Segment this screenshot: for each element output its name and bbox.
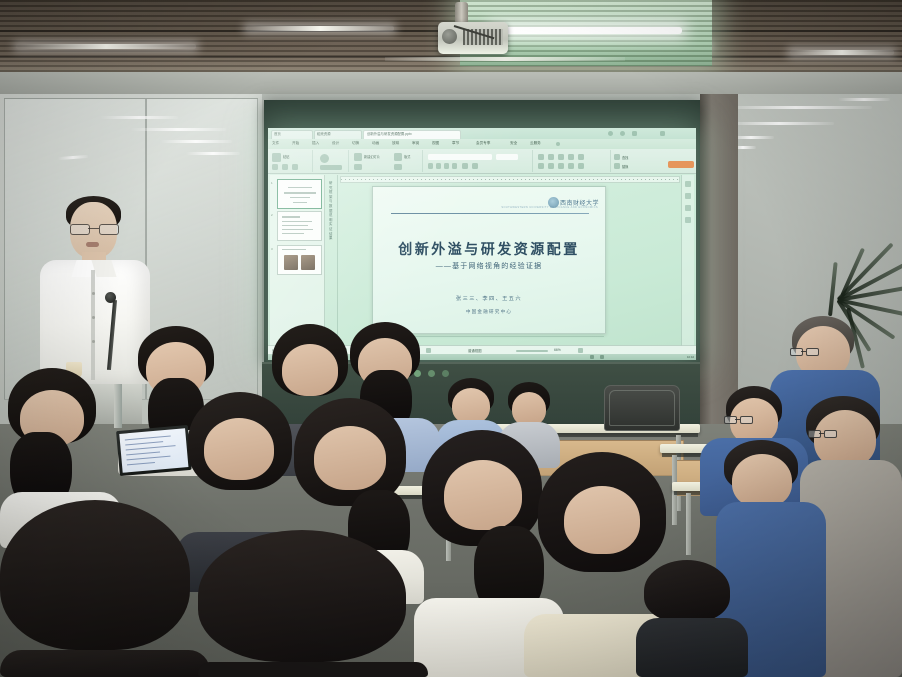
share-button[interactable] [668,161,694,168]
ceiling-light-strip [790,50,894,55]
redo-icon[interactable] [320,165,342,170]
upper-wall-band [0,72,902,95]
presenter-mouth [86,242,99,247]
menu-item[interactable]: 开始 [292,141,299,146]
ceiling-light-strip [246,26,394,31]
head [204,418,274,480]
ribbon-group-slides: 新建幻灯片 版式 [350,150,423,172]
align-left-icon[interactable] [538,163,544,169]
ceiling-fluorescent-tube [492,27,682,34]
app-tab-label: 首页 [274,130,310,138]
head [732,454,792,508]
thumbnail-number: 1 [271,181,273,185]
menu-item[interactable]: 插入 [312,141,319,146]
volume-icon[interactable] [600,355,604,359]
classroom-seminar-photo: 首页 稻壳资源 创新外溢与研发资源配置.pptx 文件 开始 插入 设计 切换 … [0,0,902,677]
app-ribbon: 粘贴 新建幻灯片 版式 [268,149,696,174]
microphone-icon [105,292,116,303]
head [564,486,640,554]
projector-lens-icon [442,29,457,44]
menu-item[interactable]: 动画 [372,141,379,146]
underline-icon[interactable] [444,163,449,169]
menu-item[interactable]: 会员专享 [476,141,490,146]
torso [198,662,428,677]
font-size-select[interactable] [496,154,518,160]
projector-mount [455,2,468,24]
slide-ruler [340,176,680,183]
ceiling-light-strip [16,44,196,49]
thumbnail-number: 2 [271,213,273,217]
glasses-icon [724,416,752,422]
format-pane-icon[interactable] [685,193,691,199]
slide-subtitle: ——基于网络视角的经验证据 [373,261,605,271]
glasses-icon [808,430,836,436]
menu-item[interactable]: 章节 [452,141,459,146]
copy-icon[interactable] [282,164,288,170]
columns-icon[interactable] [578,163,584,169]
shirt-button [92,292,95,295]
shirt-button [92,340,95,343]
settings-icon[interactable] [620,131,625,136]
light-reflection [130,128,226,131]
justify-icon[interactable] [568,163,574,169]
slide-title: 创新外溢与研发资源配置 [373,239,605,259]
slide-canvas[interactable]: 西南财经大学 SOUTHWESTERN UNIVERSITY OF FINANC… [372,186,606,334]
glasses-icon [70,224,117,233]
ribbon-group-font [424,150,533,172]
bullet-list-icon[interactable] [538,154,544,160]
audience-member [0,500,210,677]
audience-member [636,560,748,677]
menu-item[interactable]: 审阅 [412,141,419,146]
numbered-list-icon[interactable] [548,154,554,160]
light-reflection [720,106,872,109]
ribbon-group-clipboard: 粘贴 [268,150,313,172]
right-tool-pane[interactable] [681,175,694,346]
hair [0,500,190,650]
find-icon[interactable] [614,154,620,160]
slide-thumbnail-pane[interactable]: 1 2 3 [270,175,325,346]
ribbon-group-undo [314,150,349,172]
format-painter-icon[interactable] [292,164,298,170]
menu-item[interactable]: 文件 [272,141,279,146]
head [452,388,490,424]
head [314,426,386,490]
reset-icon[interactable] [394,164,402,170]
fit-to-window-icon[interactable] [578,348,583,353]
outline-pane[interactable]: 研究框架与数据说明实证结果 [326,175,338,346]
zoom-slider[interactable] [516,350,548,352]
animation-pane-icon[interactable] [685,205,691,211]
menu-item[interactable]: 安全 [510,141,517,146]
ribbon-label: 查找 [622,155,628,160]
close-icon[interactable] [660,131,665,136]
hair [644,560,730,622]
chair-back-inner [609,390,675,426]
hair [198,530,406,662]
slide-divider [391,213,589,214]
menu-item[interactable]: 云服务 [530,141,541,146]
ribbon-label: 替换 [622,164,628,169]
paste-icon[interactable] [272,153,281,162]
app-tab-label: 创新外溢与研发资源配置.pptx [367,130,455,138]
ceiling-light-shelf [385,57,625,61]
layout-icon[interactable] [394,153,402,161]
glasses-icon [790,348,818,354]
light-reflection [186,152,240,155]
shirt-button [92,316,95,319]
bold-icon[interactable] [428,163,433,169]
light-reflection [724,122,834,125]
head [282,344,338,396]
slide-thumbnail-2[interactable] [277,211,322,241]
shirt-placket [91,270,95,380]
indent-icon[interactable] [558,154,564,160]
app-tab-label: 稻壳资源 [317,130,359,138]
wall-pillar [700,94,738,424]
selection-pane-icon[interactable] [685,217,691,223]
light-reflection [160,140,232,143]
menu-item[interactable]: 设计 [332,141,339,146]
torso [636,618,748,677]
light-reflection [838,98,890,101]
light-reflection [100,116,178,119]
slide-thumbnail-1[interactable] [277,179,322,209]
ribbon-label: 新建幻灯片 [364,154,380,159]
strikethrough-icon[interactable] [452,163,457,169]
design-ideas-icon[interactable] [685,181,691,187]
office-chair [604,385,680,431]
university-logo-subtext: SOUTHWESTERN UNIVERSITY OF FINANCE AND E… [501,206,598,209]
text-color-icon[interactable] [462,163,468,169]
ribbon-group-editing: 查找 替换 [612,150,660,172]
ribbon-label: 版式 [404,154,410,159]
line-spacing-icon[interactable] [578,154,584,160]
undo-icon[interactable] [320,154,329,163]
head [444,460,522,530]
italic-icon[interactable] [436,163,441,169]
outdent-icon[interactable] [568,154,574,160]
thumbnail-number: 3 [271,247,273,251]
new-slide-icon[interactable] [354,153,362,161]
slide-affiliation: 中国金融研究中心 [373,309,605,315]
slide-authors: 张三三、李四、王五六 [373,295,605,302]
menu-item[interactable]: 切换 [352,141,359,146]
view-label: 普通视图 [468,348,482,353]
audience-member [198,530,428,677]
taskbar-clock: 10:42 [687,355,694,359]
cut-icon[interactable] [272,164,278,170]
torso [0,650,210,677]
slide-thumbnail-3[interactable] [277,245,322,275]
align-center-icon[interactable] [548,163,554,169]
ribbon-group-paragraph [534,150,611,172]
font-family-select[interactable] [428,154,492,160]
menu-item[interactable]: 视图 [432,141,439,146]
network-icon[interactable] [590,355,594,359]
ceiling-mounted-projector [438,22,508,54]
minimize-icon[interactable] [632,131,637,136]
zoom-level[interactable]: 66% [554,348,561,352]
align-right-icon[interactable] [558,163,564,169]
help-icon[interactable] [608,131,613,136]
highlight-icon[interactable] [472,163,478,169]
search-icon[interactable] [556,142,560,146]
ribbon-label: 粘贴 [283,154,289,159]
section-icon[interactable] [354,164,362,170]
replace-icon[interactable] [614,163,620,169]
head [512,392,546,426]
menu-item[interactable]: 放映 [392,141,399,146]
board-marker-dot [442,370,449,377]
